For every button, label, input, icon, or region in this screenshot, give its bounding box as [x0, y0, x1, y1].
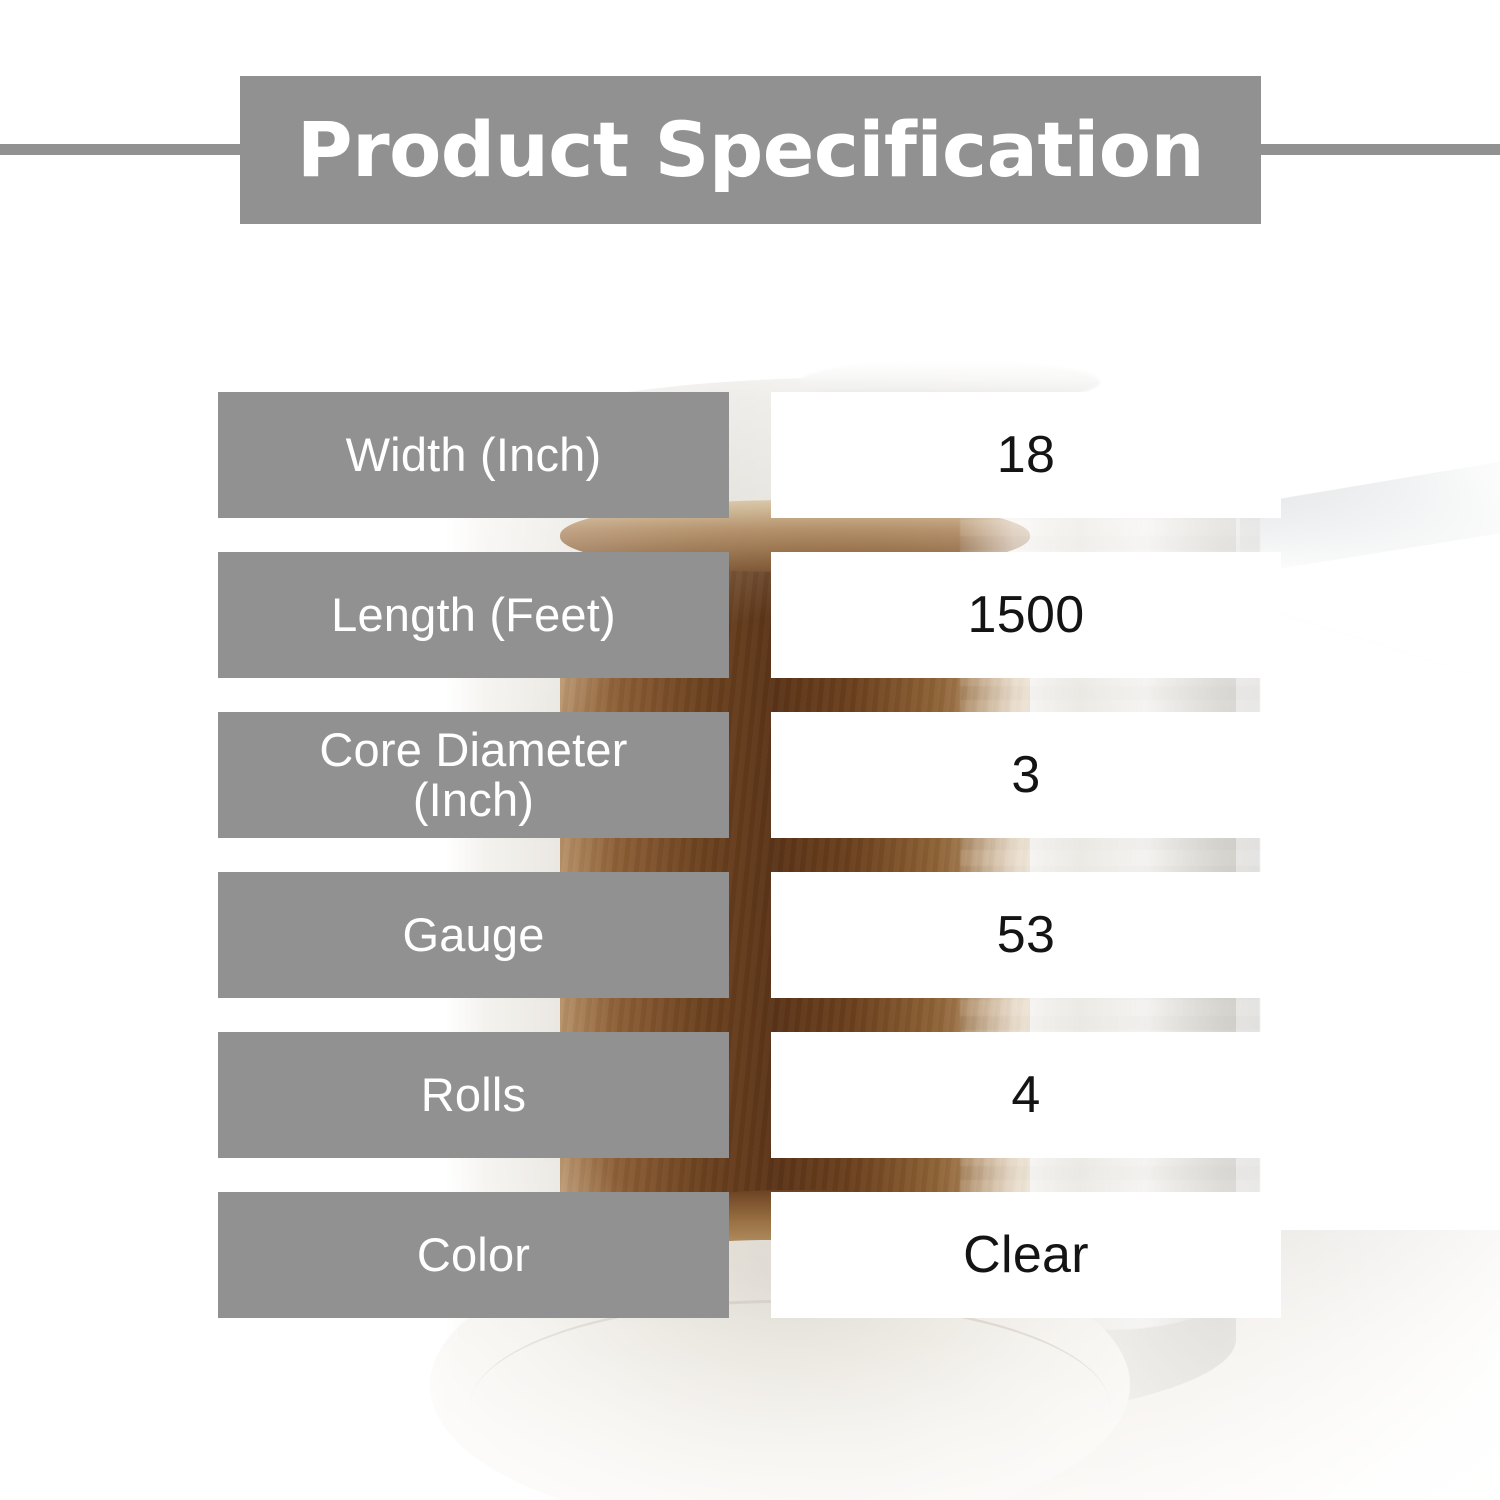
spec-value-cell: 1500 — [771, 552, 1281, 678]
spec-row: Length (Feet)1500 — [218, 552, 1281, 678]
spec-label-cell: Width (Inch) — [218, 392, 729, 518]
spec-label-text: Gauge — [402, 910, 544, 960]
spec-label-cell: Core Diameter (Inch) — [218, 712, 729, 838]
spec-label-cell: Color — [218, 1192, 729, 1318]
spec-value-cell: 18 — [771, 392, 1281, 518]
spec-value-cell: 3 — [771, 712, 1281, 838]
spec-row: Core Diameter (Inch)3 — [218, 712, 1281, 838]
spec-value-text: 1500 — [968, 589, 1085, 641]
spec-value-text: 3 — [1011, 749, 1040, 801]
spec-value-text: Clear — [963, 1229, 1089, 1281]
spec-label-cell: Rolls — [218, 1032, 729, 1158]
spec-label-text: Width (Inch) — [346, 430, 602, 480]
spec-label-text: Color — [417, 1230, 530, 1280]
spec-value-text: 53 — [997, 909, 1055, 961]
spec-label-text: Rolls — [421, 1070, 526, 1120]
spec-value-cell: Clear — [771, 1192, 1281, 1318]
spec-label-cell: Gauge — [218, 872, 729, 998]
spec-value-text: 18 — [997, 429, 1055, 481]
spec-value-cell: 4 — [771, 1032, 1281, 1158]
spec-label-cell: Length (Feet) — [218, 552, 729, 678]
product-specification-infographic: Product Specification Width (Inch)18Leng… — [0, 0, 1500, 1500]
spec-row: Rolls4 — [218, 1032, 1281, 1158]
spec-row: ColorClear — [218, 1192, 1281, 1318]
spec-row: Gauge53 — [218, 872, 1281, 998]
spec-row: Width (Inch)18 — [218, 392, 1281, 518]
spec-label-text: Core Diameter (Inch) — [319, 725, 627, 825]
spec-label-text: Length (Feet) — [331, 590, 616, 640]
specification-table: Width (Inch)18Length (Feet)1500Core Diam… — [0, 0, 1500, 1500]
spec-value-text: 4 — [1011, 1069, 1040, 1121]
spec-value-cell: 53 — [771, 872, 1281, 998]
